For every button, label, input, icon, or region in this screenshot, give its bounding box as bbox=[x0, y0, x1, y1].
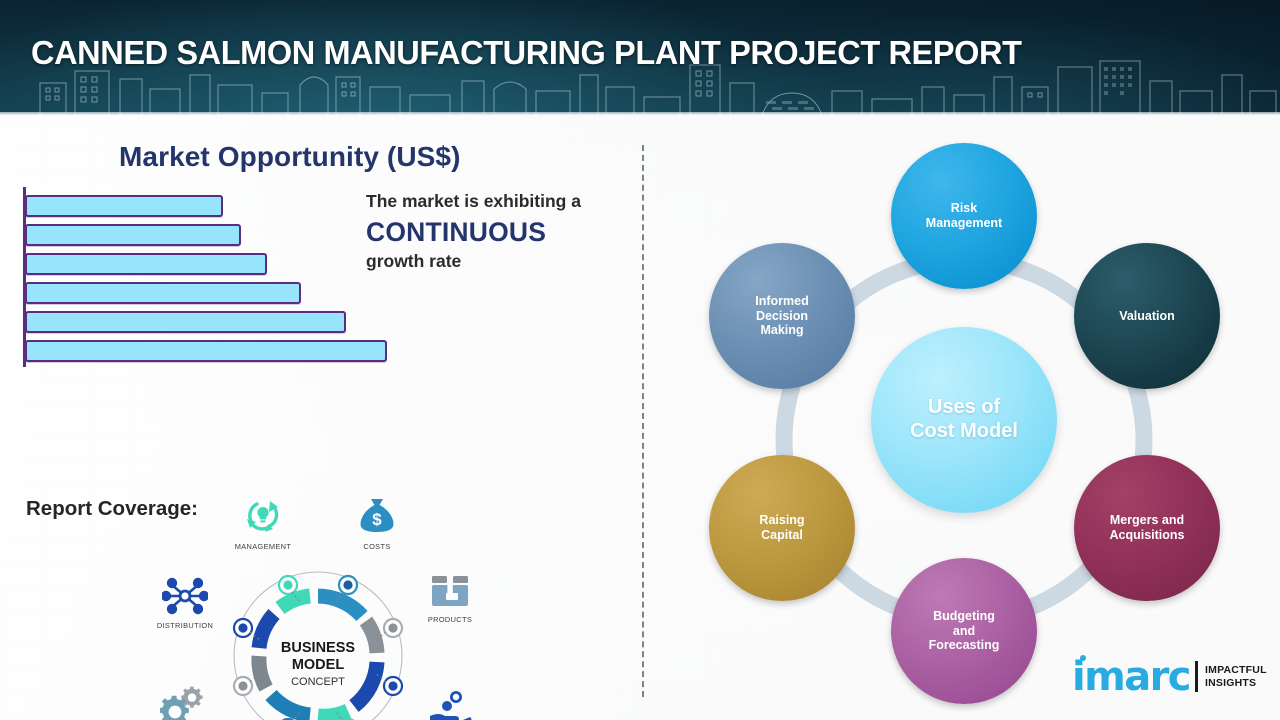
market-opportunity-bar-chart bbox=[23, 187, 398, 367]
slide-body: Market Opportunity (US$) The market is e… bbox=[0, 115, 1280, 720]
left-panel: Market Opportunity (US$) The market is e… bbox=[0, 115, 643, 720]
page-title: CANNED SALMON MANUFACTURING PLANT PROJEC… bbox=[31, 34, 1022, 72]
products-label: PRODUCTS bbox=[410, 615, 490, 624]
imarc-logo-separator bbox=[1195, 661, 1198, 692]
node-valuation-label: Valuation bbox=[1113, 309, 1181, 324]
node-center-uses-of-cost-model: Uses ofCost Model bbox=[871, 327, 1057, 513]
management-icon bbox=[240, 495, 286, 535]
products-icon bbox=[428, 572, 472, 610]
blurb-line-3: growth rate bbox=[366, 251, 636, 272]
business-model-diagram: BUSINESS MODEL CONCEPT MANAGEMENT bbox=[140, 490, 530, 720]
imarc-tagline-line-2: INSIGHTS bbox=[1205, 677, 1256, 689]
node-budgeting-label: BudgetingandForecasting bbox=[923, 609, 1006, 653]
bar-row bbox=[25, 340, 387, 362]
imarc-logo: imarc IMPACTFUL INSIGHTS bbox=[1072, 655, 1268, 703]
imarc-wordmark: imarc bbox=[1072, 657, 1190, 697]
bar-row bbox=[25, 282, 301, 304]
header-banner: CANNED SALMON MANUFACTURING PLANT PROJEC… bbox=[0, 0, 1280, 115]
node-mergers-label: Mergers andAcquisitions bbox=[1103, 513, 1190, 543]
node-risk-management-label: RiskManagement bbox=[920, 201, 1008, 231]
bar-row bbox=[25, 253, 267, 275]
growth-blurb: The market is exhibiting a CONTINUOUS gr… bbox=[366, 191, 636, 272]
node-budgeting-and-forecasting[interactable]: BudgetingandForecasting bbox=[891, 558, 1037, 704]
bm-center-line-3: CONCEPT bbox=[291, 676, 345, 688]
services-icon bbox=[160, 685, 208, 720]
node-center-label: Uses ofCost Model bbox=[904, 396, 1024, 443]
slide-root: CANNED SALMON MANUFACTURING PLANT PROJEC… bbox=[0, 0, 1280, 720]
distribution-label: DISTRIBUTION bbox=[145, 621, 225, 630]
distribution-icon bbox=[162, 575, 208, 617]
node-raising-capital[interactable]: RaisingCapital bbox=[709, 455, 855, 601]
node-informed-decision-making[interactable]: InformedDecisionMaking bbox=[709, 243, 855, 389]
revenue-icon bbox=[426, 690, 474, 720]
node-informed-label: InformedDecisionMaking bbox=[749, 294, 814, 338]
bar-row bbox=[25, 195, 223, 217]
costs-icon: $ bbox=[356, 494, 398, 536]
blurb-line-1: The market is exhibiting a bbox=[366, 191, 636, 213]
bar-row bbox=[25, 224, 241, 246]
node-risk-management[interactable]: RiskManagement bbox=[891, 143, 1037, 289]
management-label: MANAGEMENT bbox=[223, 542, 303, 551]
market-opportunity-title: Market Opportunity (US$) bbox=[119, 141, 461, 173]
svg-text:$: $ bbox=[372, 510, 382, 529]
costs-label: COSTS bbox=[337, 542, 417, 551]
node-valuation[interactable]: Valuation bbox=[1074, 243, 1220, 389]
bm-center-line-1: BUSINESS bbox=[281, 640, 355, 656]
bm-center-line-2: MODEL bbox=[292, 657, 345, 673]
node-raising-capital-label: RaisingCapital bbox=[753, 513, 810, 543]
node-mergers-and-acquisitions[interactable]: Mergers andAcquisitions bbox=[1074, 455, 1220, 601]
imarc-tagline-line-1: IMPACTFUL bbox=[1205, 664, 1267, 676]
blurb-emphasis: CONTINUOUS bbox=[366, 213, 636, 251]
bar-row bbox=[25, 311, 346, 333]
